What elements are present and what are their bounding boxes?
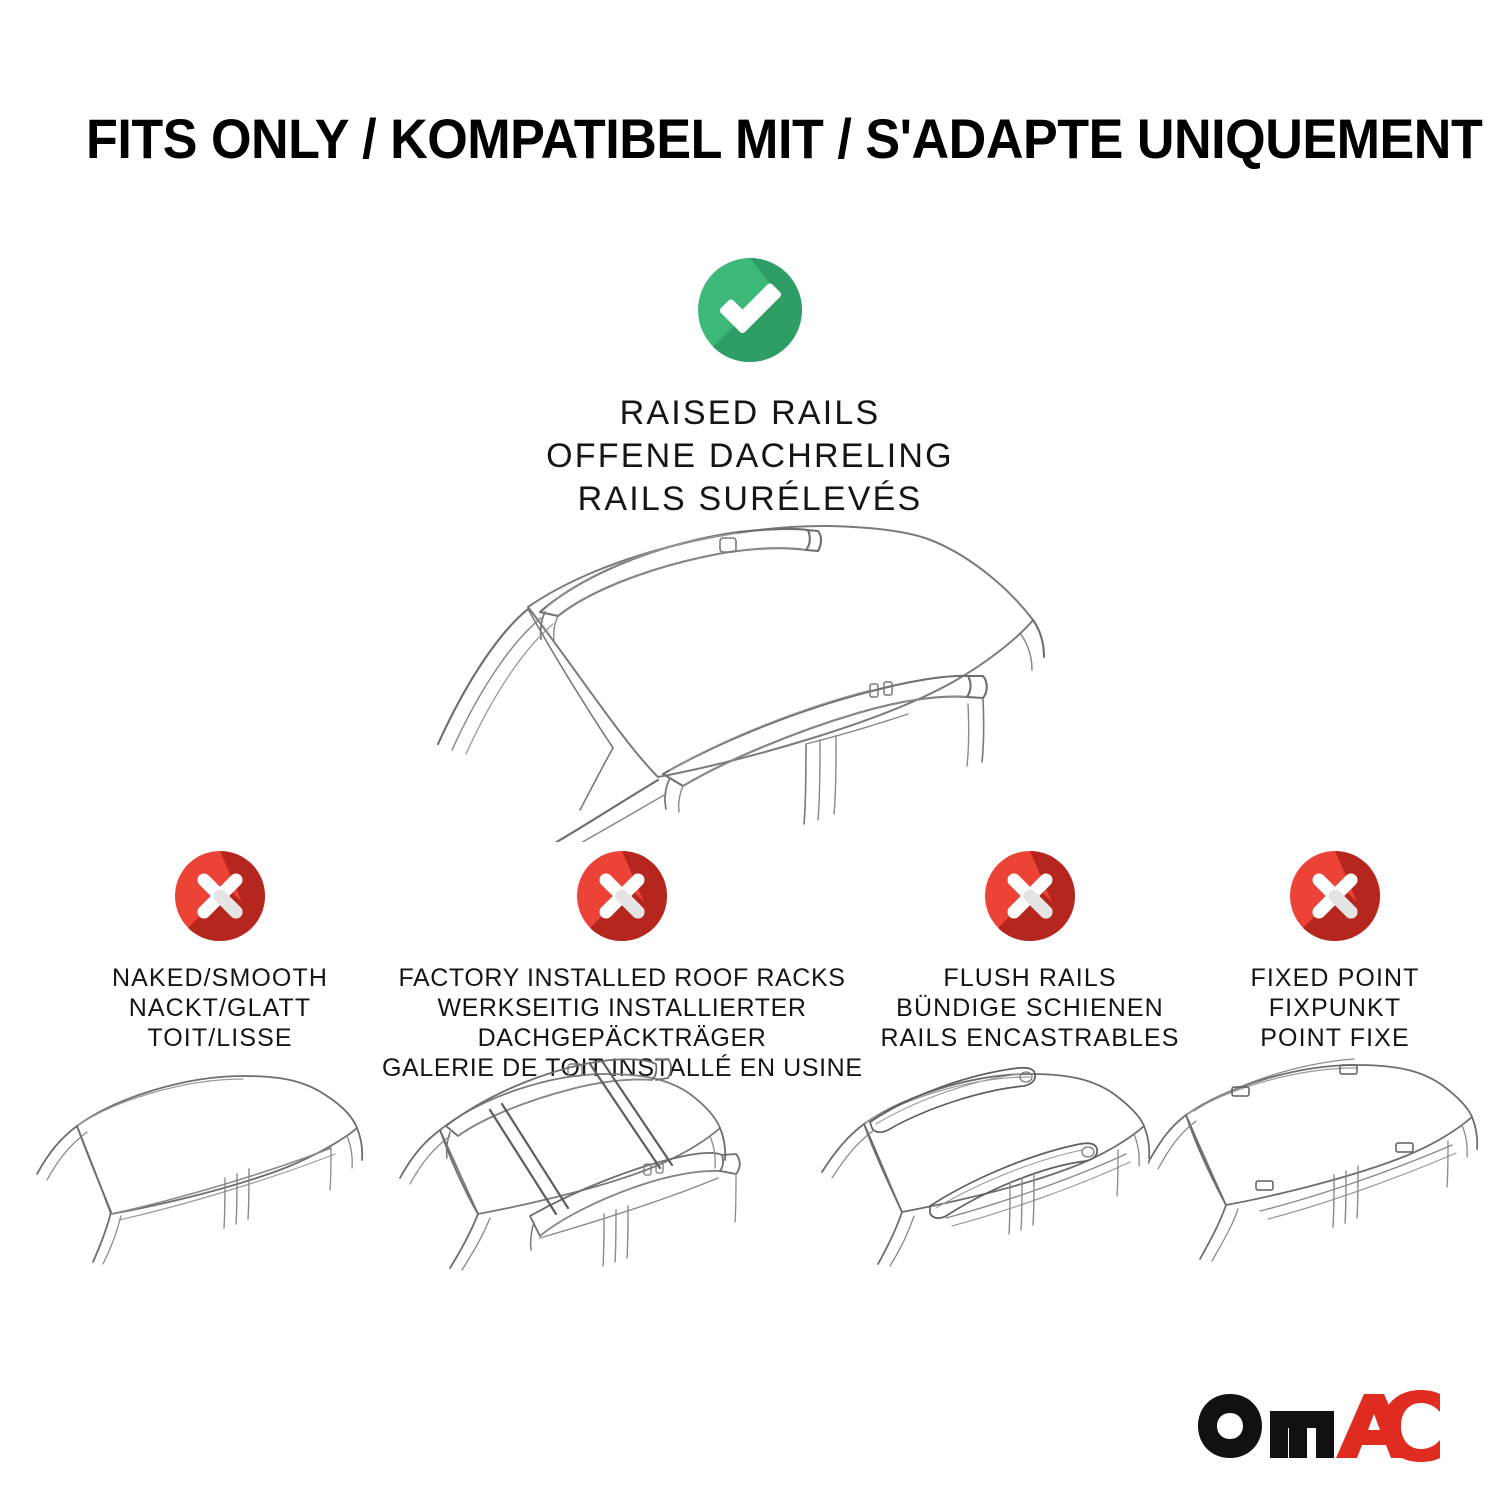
incompatible-label-fr: POINT FIXE — [1190, 1023, 1480, 1053]
x-circle-icon — [982, 848, 1078, 944]
fitment-infographic: FITS ONLY / KOMPATIBEL MIT / S'ADAPTE UN… — [0, 0, 1500, 1500]
compatible-section: RAISED RAILS OFFENE DACHRELING RAILS SUR… — [0, 255, 1500, 521]
incompatible-labels: NAKED/SMOOTH NACKT/GLATT TOIT/LISSE — [40, 963, 400, 1053]
car-roof-factory-roof-racks-illustration — [398, 1046, 748, 1271]
compatible-label-de: OFFENE DACHRELING — [0, 435, 1500, 478]
incompatible-label-en: FACTORY INSTALLED ROOF RACKS — [382, 963, 862, 993]
check-circle-icon — [695, 255, 805, 365]
compatible-label-en: RAISED RAILS — [0, 392, 1500, 435]
car-roof-fixed-point-illustration — [1148, 1053, 1500, 1271]
incompatible-label-de: BÜNDIGE SCHIENEN — [860, 993, 1200, 1023]
incompatible-label-en: NAKED/SMOOTH — [40, 963, 400, 993]
incompatible-section: NAKED/SMOOTH NACKT/GLATT TOIT/LISSE — [0, 848, 1500, 1278]
incompatible-label-de: NACKT/GLATT — [40, 993, 400, 1023]
incompatible-item-naked-smooth: NAKED/SMOOTH NACKT/GLATT TOIT/LISSE — [40, 848, 400, 1053]
x-circle-icon — [574, 848, 670, 944]
incompatible-label-fr: RAILS ENCASTRABLES — [860, 1023, 1200, 1053]
incompatible-label-en: FIXED POINT — [1190, 963, 1480, 993]
incompatible-label-de: FIXPUNKT — [1190, 993, 1480, 1023]
compatible-labels: RAISED RAILS OFFENE DACHRELING RAILS SUR… — [0, 392, 1500, 521]
car-roof-flush-rails-illustration — [818, 1056, 1178, 1271]
incompatible-label-fr: TOIT/LISSE — [40, 1023, 400, 1053]
incompatible-item-flush-rails: FLUSH RAILS BÜNDIGE SCHIENEN RAILS ENCAS… — [860, 848, 1200, 1053]
car-roof-naked-smooth-illustration — [35, 1056, 385, 1271]
incompatible-label-en: FLUSH RAILS — [860, 963, 1200, 993]
x-circle-icon — [1287, 848, 1383, 944]
incompatible-label-de-1: WERKSEITIG INSTALLIERTER — [382, 993, 862, 1023]
car-roof-raised-rails-illustration — [408, 512, 1108, 842]
x-circle-icon — [172, 848, 268, 944]
incompatible-labels: FLUSH RAILS BÜNDIGE SCHIENEN RAILS ENCAS… — [860, 963, 1200, 1053]
incompatible-labels: FIXED POINT FIXPUNKT POINT FIXE — [1190, 963, 1480, 1053]
incompatible-item-fixed-point: FIXED POINT FIXPUNKT POINT FIXE — [1190, 848, 1480, 1053]
omac-logo — [1194, 1390, 1444, 1462]
page-title: FITS ONLY / KOMPATIBEL MIT / S'ADAPTE UN… — [86, 106, 1332, 172]
